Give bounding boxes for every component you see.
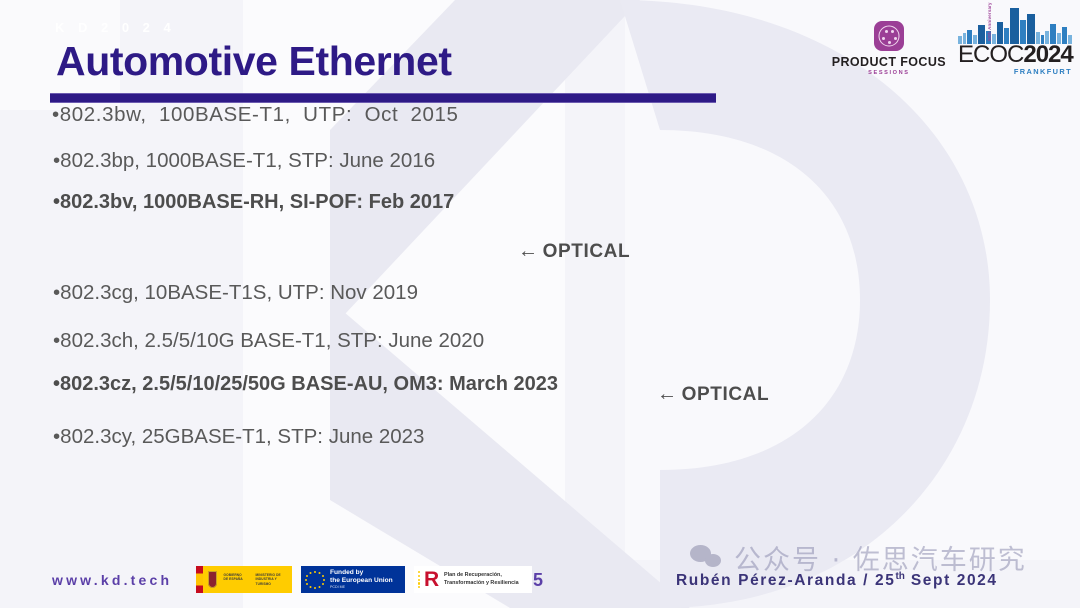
ecoc-anniversary-label: 50th Anniversary xyxy=(987,2,992,41)
header-logos: PRODUCT FOCUS SESSIONS xyxy=(832,8,1072,76)
eu-logo-sub: PCDI ME xyxy=(330,585,393,589)
ecoc-prefix: ECOC xyxy=(958,41,1023,68)
spain-logo-line1: GOBIERNO DE ESPAÑA xyxy=(224,573,246,586)
wechat-watermark-text: 公众号 · 佐思汽车研究 xyxy=(734,538,1027,577)
wechat-watermark: 公众号 · 佐思汽车研究 xyxy=(690,538,1027,577)
list-item: •802.3cg, 10BASE-T1S, UTP: Nov 2019 xyxy=(53,283,418,304)
product-focus-logo: PRODUCT FOCUS SESSIONS xyxy=(832,21,946,76)
product-focus-dot-icon xyxy=(882,37,885,40)
optical-annotation: ←OPTICAL xyxy=(518,240,630,263)
eu-logo-line1: Funded by xyxy=(330,569,393,577)
product-focus-name: PRODUCT FOCUS xyxy=(832,55,946,69)
ecoc-year: 2024 xyxy=(1023,41,1072,68)
wechat-icon xyxy=(690,545,724,571)
product-focus-icon xyxy=(874,21,904,51)
left-arrow-icon: ← xyxy=(518,240,543,262)
funding-logos: GOBIERNO DE ESPAÑA MINISTERIO DE INDUSTR… xyxy=(196,566,532,593)
title-underline-rule xyxy=(50,93,716,103)
product-focus-subtitle: SESSIONS xyxy=(832,70,946,76)
page-number: 5 xyxy=(533,570,543,591)
list-item: •802.3bv, 1000BASE-RH, SI-POF: Feb 2017 xyxy=(53,192,454,212)
optical-label: OPTICAL xyxy=(543,241,631,262)
prtr-logo: R Plan de Recuperación, Transformación y… xyxy=(414,566,532,593)
prtr-logo-line2: Transformación y Resiliencia xyxy=(444,580,519,587)
list-item: •802.3bp, 1000BASE-T1, STP: June 2016 xyxy=(53,151,435,172)
spain-logo-text: GOBIERNO DE ESPAÑA MINISTERIO DE INDUSTR… xyxy=(224,573,292,586)
list-item: •802.3bw, 100BASE-T1, UTP: Oct 2015 xyxy=(52,105,459,126)
spain-government-logo: GOBIERNO DE ESPAÑA MINISTERIO DE INDUSTR… xyxy=(196,566,292,593)
european-union-logo: Funded by the European Union PCDI ME xyxy=(301,566,405,593)
list-item: •802.3cy, 25GBASE-T1, STP: June 2023 xyxy=(53,427,424,448)
product-focus-dot-icon xyxy=(888,41,891,44)
bullet-list: •802.3bw, 100BASE-T1, UTP: Oct 2015 •802… xyxy=(0,0,1080,608)
eu-stars-icon xyxy=(305,570,325,590)
spain-coat-of-arms-icon xyxy=(208,571,217,588)
list-item: •802.3cz, 2.5/5/10/25/50G BASE-AU, OM3: … xyxy=(53,374,558,394)
prtr-letter: R xyxy=(424,570,439,589)
left-arrow-icon: ← xyxy=(657,383,682,405)
spain-logo-line2: MINISTERIO DE INDUSTRIA Y TURISMO xyxy=(256,573,292,586)
prtr-dots-icon xyxy=(418,571,423,588)
spain-flag-icon xyxy=(196,566,203,593)
ecoc-wordmark: ECOC2024 xyxy=(958,44,1072,66)
ecoc-city-label: FRANKFURT xyxy=(958,67,1072,76)
prtr-mark-icon: R xyxy=(418,569,440,590)
footer-website-url[interactable]: www.kd.tech xyxy=(52,572,172,588)
product-focus-dot-icon xyxy=(885,30,888,33)
ecoc-logo: 50th Anniversary ECOC2024 FRANKFURT xyxy=(958,8,1072,76)
prtr-logo-text: Plan de Recuperación, Transformación y R… xyxy=(444,572,519,587)
list-item: •802.3ch, 2.5/5/10G BASE-T1, STP: June 2… xyxy=(53,331,484,352)
page-title: Automotive Ethernet xyxy=(56,38,452,85)
prtr-logo-line1: Plan de Recuperación, xyxy=(444,572,519,579)
eu-logo-line2: the European Union xyxy=(330,577,393,585)
product-focus-dot-icon xyxy=(891,30,894,33)
optical-label: OPTICAL xyxy=(682,384,770,405)
slide-canvas: K D 2 0 2 4 PRODUCT FOCUS SESSIONS xyxy=(0,0,1080,608)
eu-logo-text: Funded by the European Union PCDI ME xyxy=(330,569,393,589)
ecoc-skyline-icon: 50th Anniversary xyxy=(958,8,1072,44)
product-focus-dot-icon xyxy=(894,37,897,40)
optical-annotation: ←OPTICAL xyxy=(657,383,769,406)
